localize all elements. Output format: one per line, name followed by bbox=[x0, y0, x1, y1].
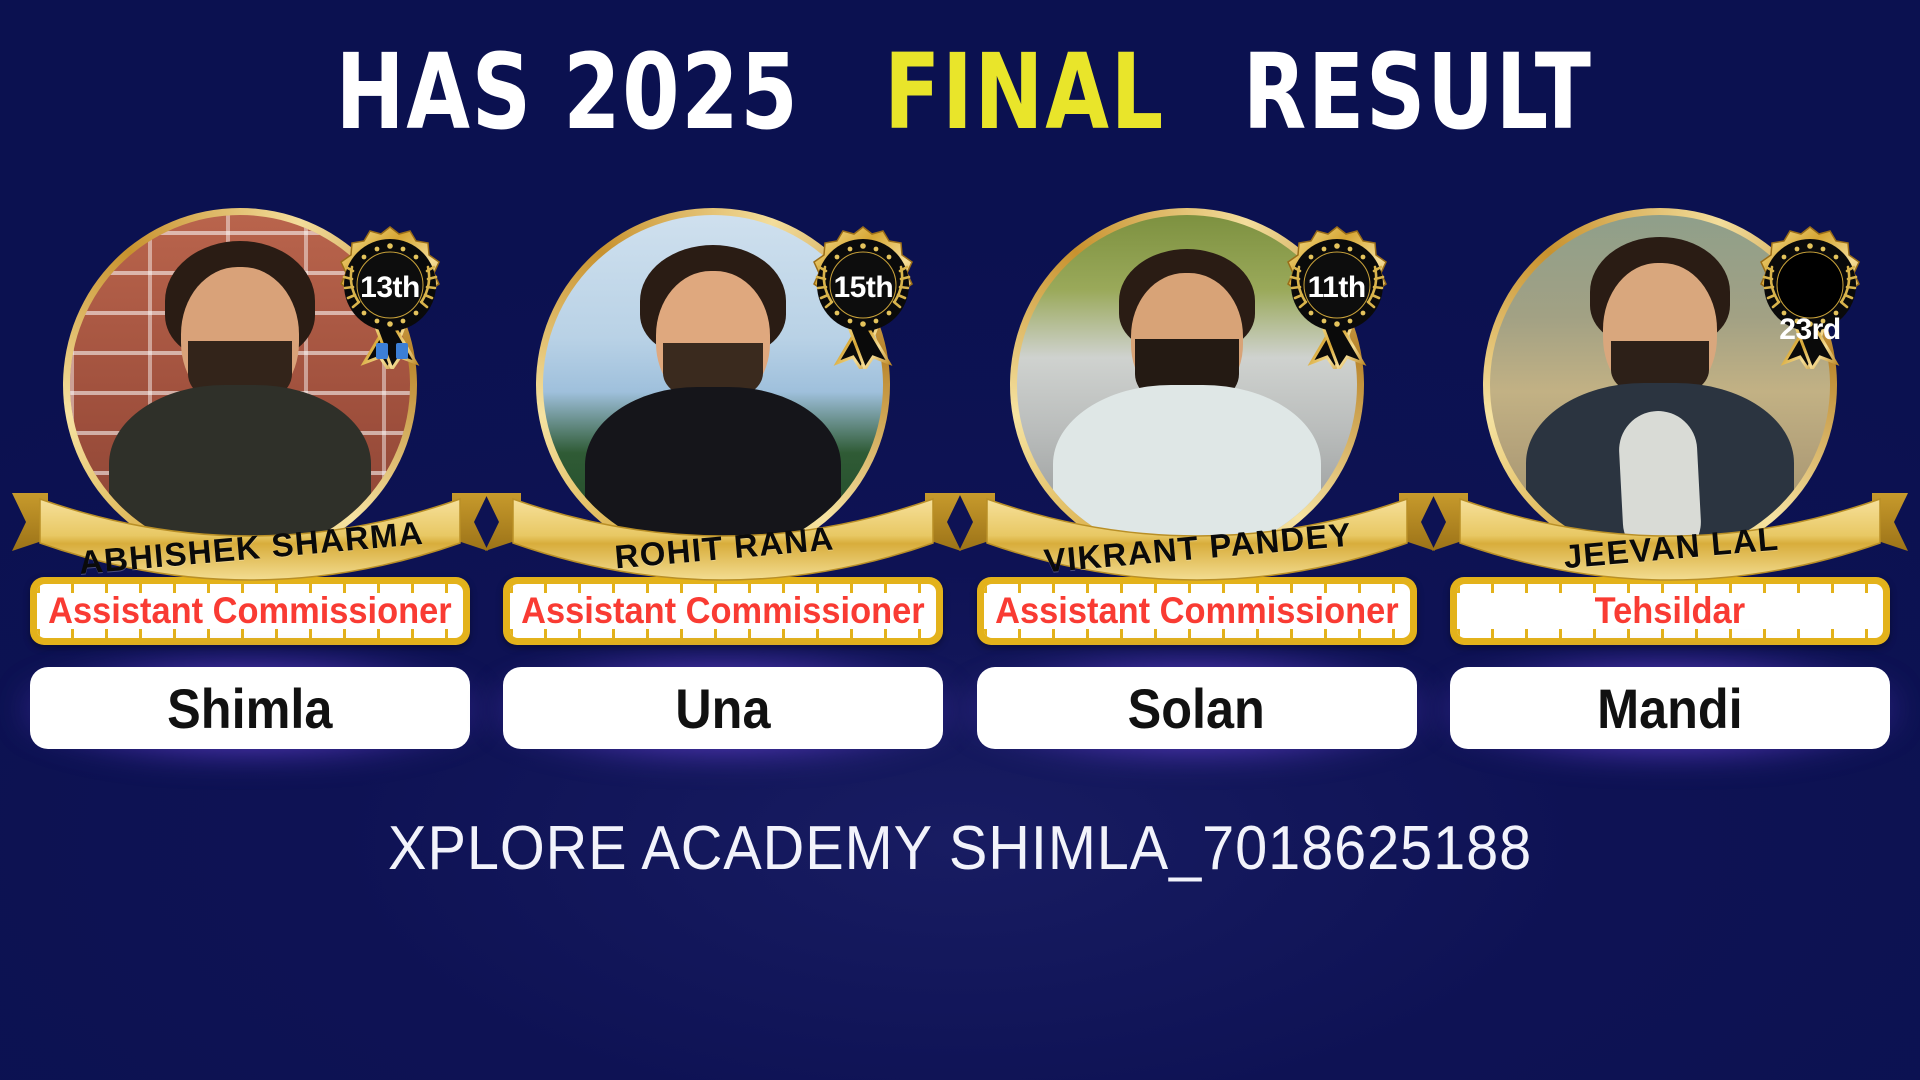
city-inner-3: Solan bbox=[977, 667, 1417, 749]
name-ribbon-1: ABHISHEK SHARMA bbox=[12, 477, 488, 587]
city-box-2: Una bbox=[503, 667, 943, 749]
city-box-3: Solan bbox=[977, 667, 1417, 749]
title-space-2 bbox=[1186, 38, 1216, 147]
rank-medal-1: 13th bbox=[324, 223, 456, 369]
toppers-grid: 13th bbox=[30, 215, 1890, 749]
city-label-2: Una bbox=[676, 676, 771, 741]
name-ribbon-2: ROHIT RANA bbox=[485, 477, 961, 587]
topper-card-2: 15th bbox=[503, 215, 943, 749]
designation-inner-4: Tehsildar bbox=[1457, 584, 1883, 638]
academy-footer-text: XPLORE ACADEMY SHIMLA_7018625188 bbox=[388, 813, 1532, 884]
designation-box-4: Tehsildar bbox=[1450, 577, 1890, 645]
poster-title: HAS 2025 FINAL RESULT bbox=[0, 38, 1920, 147]
city-inner-1: Shimla bbox=[30, 667, 470, 749]
title-space-1 bbox=[833, 38, 863, 147]
title-part-2: RESULT bbox=[1243, 38, 1593, 147]
city-box-4: Mandi bbox=[1450, 667, 1890, 749]
designation-inner-1: Assistant Commissioner bbox=[37, 584, 463, 638]
poster-root: HAS 2025 FINAL RESULT bbox=[0, 0, 1920, 1080]
designation-label-2: Assistant Commissioner bbox=[522, 590, 925, 632]
topper-card-4: 23rd bbox=[1450, 215, 1890, 749]
city-box-1: Shimla bbox=[30, 667, 470, 749]
designation-label-1: Assistant Commissioner bbox=[48, 590, 451, 632]
name-ribbon-3: VIKRANT PANDEY bbox=[959, 477, 1435, 587]
rank-medal-2: 15th bbox=[797, 223, 929, 369]
city-label-3: Solan bbox=[1128, 676, 1265, 741]
name-ribbon-4: JEEVAN LAL bbox=[1432, 477, 1908, 587]
topper-card-1: 13th bbox=[30, 215, 470, 749]
city-inner-2: Una bbox=[503, 667, 943, 749]
academy-footer: XPLORE ACADEMY SHIMLA_7018625188 bbox=[0, 813, 1920, 884]
title-highlight: FINAL bbox=[884, 38, 1165, 147]
designation-box-3: Assistant Commissioner bbox=[977, 577, 1417, 645]
designation-inner-2: Assistant Commissioner bbox=[510, 584, 936, 638]
title-part-1: HAS 2025 bbox=[335, 38, 799, 147]
city-inner-4: Mandi bbox=[1450, 667, 1890, 749]
designation-label-3: Assistant Commissioner bbox=[995, 590, 1398, 632]
city-label-1: Shimla bbox=[167, 676, 332, 741]
rank-medal-3: 11th bbox=[1271, 223, 1403, 369]
designation-box-1: Assistant Commissioner bbox=[30, 577, 470, 645]
designation-inner-3: Assistant Commissioner bbox=[984, 584, 1410, 638]
city-label-4: Mandi bbox=[1597, 676, 1743, 741]
rank-medal-4: 23rd bbox=[1744, 223, 1876, 369]
designation-label-4: Tehsildar bbox=[1595, 590, 1745, 632]
topper-card-3: 11th bbox=[977, 215, 1417, 749]
designation-box-2: Assistant Commissioner bbox=[503, 577, 943, 645]
